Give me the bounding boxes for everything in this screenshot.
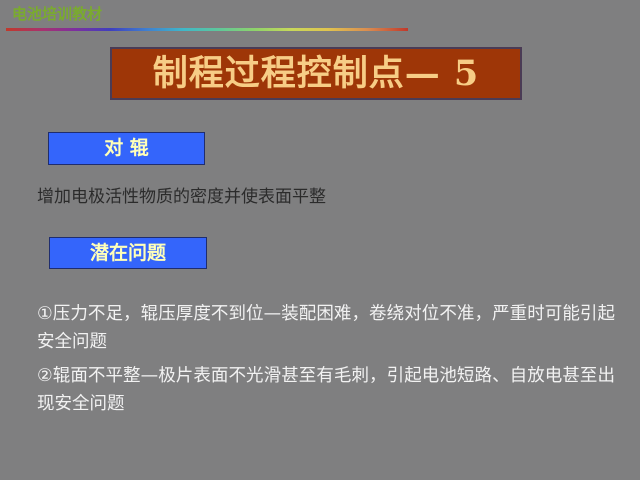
slide-title-text: 制程过程控制点— 5 [153,56,480,91]
list-item: ①压力不足，辊压厚度不到位—装配困难，卷绕对位不准，严重时可能引起安全问题 [37,300,615,356]
masthead-title: 电池培训教材 [12,4,102,24]
section-label-text: 潜在问题 [90,244,166,263]
section-label-duigun: 对 辊 [48,132,205,165]
rainbow-divider [6,28,408,31]
section-label-qianzaiwenti: 潜在问题 [49,237,207,269]
section-label-text: 对 辊 [104,139,149,158]
list-item: ②辊面不平整—极片表面不光滑甚至有毛刺，引起电池短路、自放电甚至出现安全问题 [37,362,615,418]
potential-issues-list: ①压力不足，辊压厚度不到位—装配困难，卷绕对位不准，严重时可能引起安全问题 ②辊… [37,300,615,424]
section-description-duigun: 增加电极活性物质的密度并使表面平整 [37,184,607,210]
slide-title-banner: 制程过程控制点— 5 [110,47,522,100]
slide-canvas: 电池培训教材 制程过程控制点— 5 对 辊 增加电极活性物质的密度并使表面平整 … [0,0,640,480]
